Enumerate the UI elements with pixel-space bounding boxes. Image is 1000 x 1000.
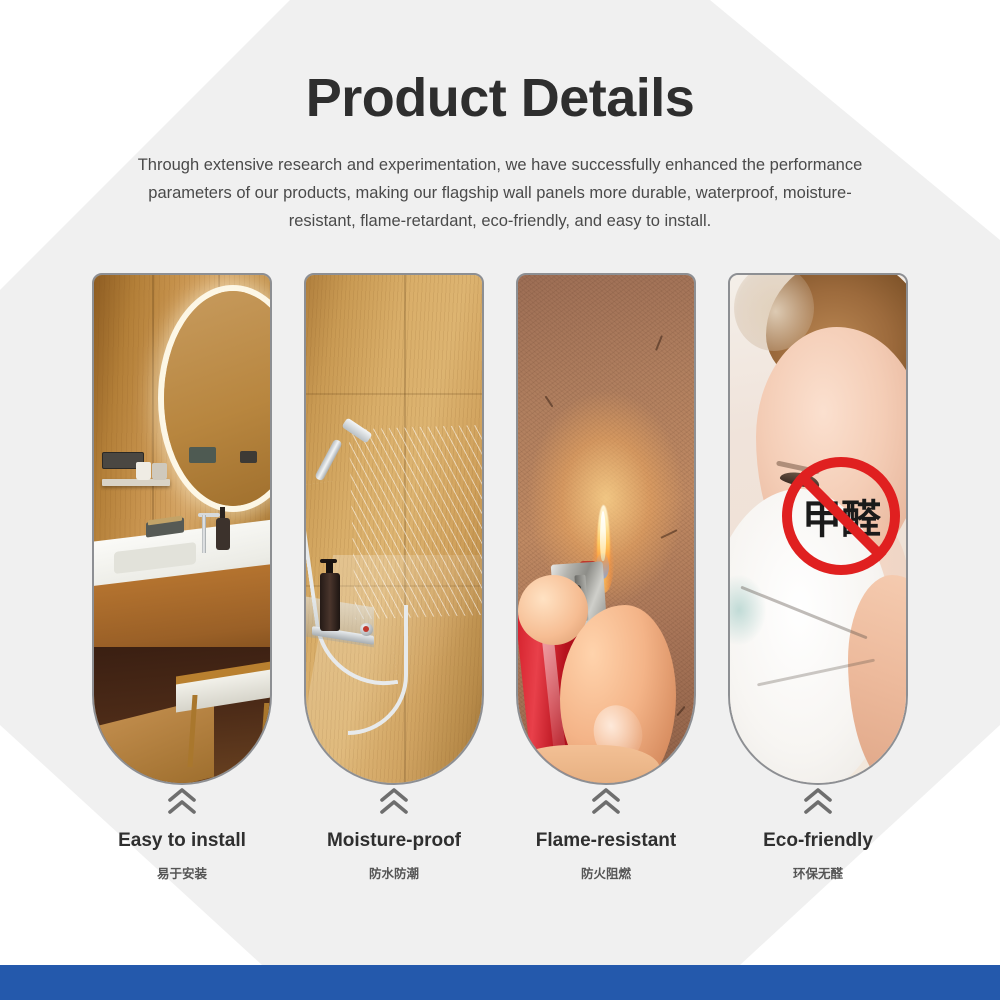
caption-label-zh: 防火阻燃 — [516, 863, 696, 882]
soap-bottle — [216, 518, 230, 550]
shampoo-bottle — [320, 573, 340, 631]
bathroom-vanity-scene — [94, 275, 270, 783]
page-title: Product Details — [0, 70, 1000, 127]
caption-label-en: Moisture-proof — [304, 831, 484, 852]
caption-label-zh: 环保无醛 — [728, 863, 908, 882]
feature-image-row: 甲醛 — [92, 273, 908, 785]
feature-caption-eco-friendly: Eco-friendly 环保无醛 — [728, 788, 908, 882]
feature-caption-flame-resistant: Flame-resistant 防火阻燃 — [516, 788, 696, 882]
double-chevron-up-icon — [803, 788, 833, 814]
caption-label-zh: 防水防潮 — [304, 863, 484, 882]
bottom-blue-bar — [0, 965, 1000, 1000]
feature-image-flame-resistant[interactable] — [516, 273, 696, 785]
shower-spray-scene — [306, 275, 482, 783]
caption-label-en: Easy to install — [92, 831, 272, 852]
feature-caption-row: Easy to install 易于安装 Moisture-proof 防水防潮… — [92, 788, 908, 882]
wall-switch — [189, 447, 216, 463]
valve-indicator — [363, 626, 369, 632]
header: Product Details Through extensive resear… — [0, 0, 1000, 236]
lighter-flame-scene — [518, 275, 694, 783]
feature-caption-easy-to-install: Easy to install 易于安装 — [92, 788, 272, 882]
feature-image-easy-to-install[interactable] — [92, 273, 272, 785]
panel-seam — [306, 393, 482, 395]
faucet-body — [202, 515, 206, 553]
page-subtitle: Through extensive research and experimen… — [115, 151, 885, 236]
feature-image-moisture-proof[interactable] — [304, 273, 484, 785]
double-chevron-up-icon — [167, 788, 197, 814]
caption-label-zh: 易于安装 — [92, 863, 272, 882]
palm — [518, 745, 660, 783]
double-chevron-up-icon — [379, 788, 409, 814]
double-chevron-up-icon — [591, 788, 621, 814]
baby-no-formaldehyde-scene: 甲醛 — [730, 275, 906, 783]
caption-label-en: Eco-friendly — [728, 831, 908, 852]
cup — [152, 463, 167, 480]
no-formaldehyde-sign: 甲醛 — [782, 457, 900, 575]
cup — [136, 462, 151, 480]
caption-label-en: Flame-resistant — [516, 831, 696, 852]
feature-caption-moisture-proof: Moisture-proof 防水防潮 — [304, 788, 484, 882]
wall-shelf — [102, 479, 170, 486]
wall-switch — [240, 451, 257, 463]
feature-image-eco-friendly[interactable]: 甲醛 — [728, 273, 908, 785]
product-details-page: Product Details Through extensive resear… — [0, 0, 1000, 1000]
